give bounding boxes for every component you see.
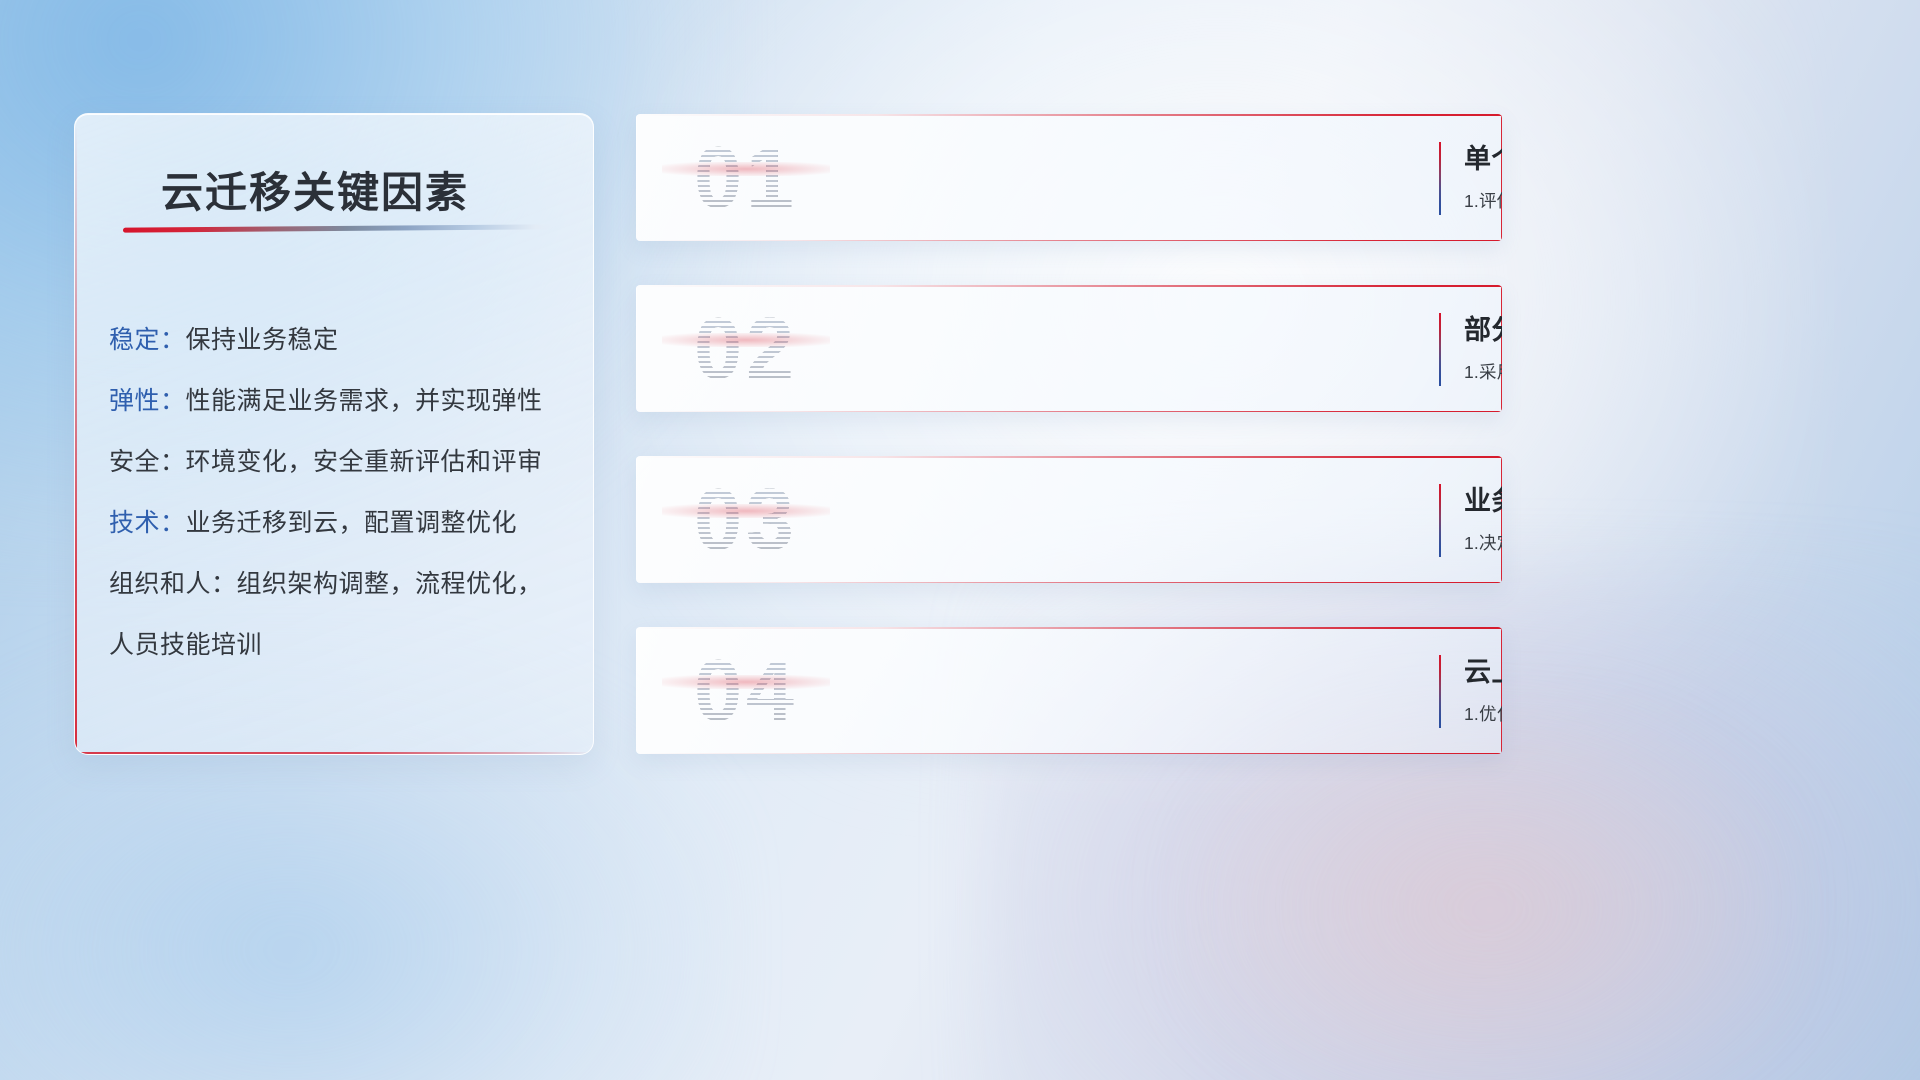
key-factors-title: 云迁移关键因素 [161,159,469,220]
background-glow-pink [1180,700,1800,1080]
key-factor-text: 保持业务稳定 [186,326,339,354]
step-content-01: 单个项目尝试上云 1.评估上云的价值 2.通常以某个项目作为尝试 [1464,140,1484,213]
step-card-03[interactable]: 03 业务系统全面上云 1.决定长期使用云计算 2.迁移应用上云，甚至包括核心应… [636,456,1502,583]
key-factor-text: 性能满足业务需求，并实现弹性 [186,387,543,415]
key-factor-label: 技术： [109,509,186,537]
step-card-01[interactable]: 01 单个项目尝试上云 1.评估上云的价值 2.通常以某个项目作为尝试 [636,114,1502,241]
step-content-03: 业务系统全面上云 1.决定长期使用云计算 2.迁移应用上云，甚至包括核心应用 [1464,482,1484,555]
step-content-04: 云上系统运营优化 1.优化运营模式和技术模式 2.云计算变成默认选项 [1464,653,1484,726]
step-divider-line [1439,655,1441,728]
step-number-03: 03 [662,472,830,568]
card-top-accent [636,114,1502,116]
card-right-accent [1501,285,1503,412]
key-factor-item: 组织和人：组织架构调整，流程优化， [109,554,573,615]
step-description: 1.采用公有云作为数据中心的延伸 2.建立运营和安全规范 [1464,360,1484,384]
step-card-02[interactable]: 02 部分业务系统上云 1.采用公有云作为数据中心的延伸 2.建立运营和安全规范 [636,285,1502,412]
step-number-02: 02 [662,301,830,397]
card-bottom-accent [636,582,1502,584]
card-top-accent [636,627,1502,629]
step-divider-line [1439,313,1441,386]
key-factor-item: 稳定：保持业务稳定 [109,310,573,371]
step-title: 云上系统运营优化 [1464,653,1484,691]
step-content-02: 部分业务系统上云 1.采用公有云作为数据中心的延伸 2.建立运营和安全规范 [1464,311,1484,384]
card-bottom-accent [636,753,1502,755]
card-left-edge [636,627,637,754]
card-top-accent [636,456,1502,458]
step-description: 1.决定长期使用云计算 2.迁移应用上云，甚至包括核心应用 [1464,531,1484,555]
card-bottom-accent [636,240,1502,242]
step-number-04: 04 [662,643,830,739]
key-factor-item-continuation: 人员技能培训 [109,615,573,676]
key-factor-text: 人员技能培训 [109,631,262,659]
key-factor-item: 技术：业务迁移到云，配置调整优化 [109,493,573,554]
card-right-accent [1501,114,1503,241]
step-title: 业务系统全面上云 [1464,482,1484,520]
step-description: 1.评估上云的价值 2.通常以某个项目作为尝试 [1464,189,1484,213]
key-factor-label: 组织和人： [109,570,237,598]
card-bottom-accent [636,411,1502,413]
key-factors-card: 云迁移关键因素 稳定：保持业务稳定 弹性：性能满足业务需求，并实现弹性 安全：环… [74,113,594,755]
card-right-accent [1501,456,1503,583]
step-title: 单个项目尝试上云 [1464,140,1484,178]
card-left-edge [636,114,637,241]
step-divider-line [1439,484,1441,557]
key-factor-item: 安全：环境变化，安全重新评估和评审 [109,432,573,493]
key-factor-label: 弹性： [109,387,186,415]
step-divider-line [1439,142,1441,215]
step-card-04[interactable]: 04 云上系统运营优化 1.优化运营模式和技术模式 2.云计算变成默认选项 [636,627,1502,754]
step-title: 部分业务系统上云 [1464,311,1484,349]
key-factor-item: 弹性：性能满足业务需求，并实现弹性 [109,371,573,432]
card-right-accent [1501,627,1503,754]
card-left-edge [636,456,637,583]
card-top-accent [636,285,1502,287]
key-factor-text: 环境变化，安全重新评估和评审 [186,448,543,476]
key-factor-label: 安全： [109,448,186,476]
key-factor-text: 业务迁移到云，配置调整优化 [186,509,518,537]
key-factor-text: 组织架构调整，流程优化， [237,570,543,598]
slide-canvas: 云迁移关键因素 稳定：保持业务稳定 弹性：性能满足业务需求，并实现弹性 安全：环… [0,0,1920,1080]
title-underline-rule [123,224,553,232]
key-factor-label: 稳定： [109,326,186,354]
key-factors-list: 稳定：保持业务稳定 弹性：性能满足业务需求，并实现弹性 安全：环境变化，安全重新… [109,310,573,676]
step-description: 1.优化运营模式和技术模式 2.云计算变成默认选项 [1464,702,1484,726]
card-left-edge [636,285,637,412]
step-number-01: 01 [662,130,830,226]
